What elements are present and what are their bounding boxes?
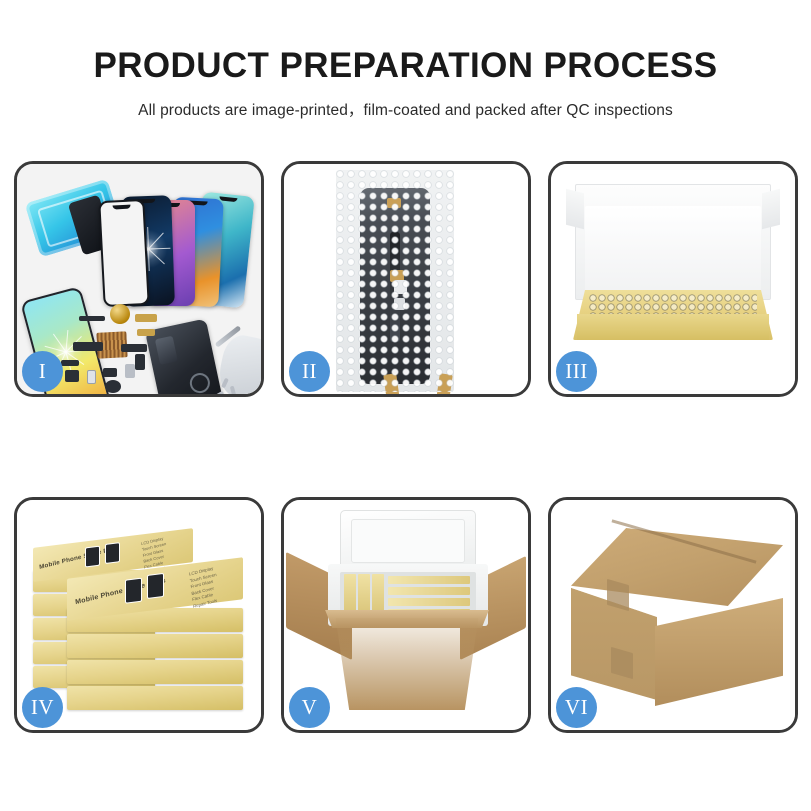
component-graphic <box>121 344 147 352</box>
component-graphic <box>103 368 117 377</box>
gold-box-edge-graphic <box>372 574 384 616</box>
speaker-component-graphic <box>110 304 130 324</box>
screen-thumbnail <box>125 578 142 604</box>
step-caption-2: Screen assembly sealed in bubble wrap ba… <box>284 164 285 165</box>
component-graphic <box>61 360 79 366</box>
component-graphic <box>73 342 103 351</box>
step-caption-5: Boxes loaded into foam-lined master cart… <box>284 500 285 501</box>
component-graphic <box>135 314 157 322</box>
process-steps-grid: I Mobile phone spare parts: screens, bac… <box>14 161 798 733</box>
front-glass-graphic <box>98 199 149 307</box>
step-panel-5[interactable]: V Boxes loaded into foam-lined master ca… <box>281 497 531 733</box>
bubble-texture <box>336 170 454 392</box>
gold-box-edge-graphic <box>358 574 370 616</box>
step-badge-1: I <box>22 351 63 392</box>
screen-thumbnail <box>85 546 100 568</box>
carton-body-graphic <box>322 618 492 710</box>
box-spec-lines: LCD DisplayTouch ScreenFront GlassBack C… <box>189 565 220 610</box>
step-caption-6: Sealed brown master carton ready for shi… <box>551 500 552 501</box>
foam-lid-graphic <box>340 510 476 572</box>
component-graphic <box>105 380 121 393</box>
screen-thumbnail <box>147 573 164 599</box>
component-graphic <box>137 329 155 336</box>
step-caption-3: Bubble-wrapped part placed in gold box w… <box>551 164 552 165</box>
gold-box-front-graphic <box>577 314 769 340</box>
step-panel-3[interactable]: III Bubble-wrapped part placed in gold b… <box>548 161 798 397</box>
page-subtitle: All products are image-printed，film-coat… <box>0 98 811 120</box>
step-badge-3: III <box>556 351 597 392</box>
gold-box-stack-graphic: Mobile Phone Spare Parts LCD DisplayTouc… <box>27 516 255 722</box>
phone-fan-group <box>101 176 261 306</box>
gold-box-graphic <box>67 686 243 710</box>
step-panel-6[interactable]: VI Sealed brown master carton ready for … <box>548 497 798 733</box>
white-foam-sheet-graphic <box>585 206 761 296</box>
step-badge-6: VI <box>556 687 597 728</box>
step-caption-4: Gold retail boxes stacked <box>17 500 18 501</box>
gold-box-graphic <box>67 660 243 684</box>
step-badge-4: IV <box>22 687 63 728</box>
product-preparation-infographic: PRODUCT PREPARATION PROCESS All products… <box>0 0 811 811</box>
component-graphic <box>65 370 79 382</box>
component-graphic <box>125 364 135 378</box>
screen-thumbnail <box>105 542 120 564</box>
gold-box-face-graphic <box>388 587 470 595</box>
step-badge-5: V <box>289 687 330 728</box>
step-panel-4[interactable]: Mobile Phone Spare Parts LCD DisplayTouc… <box>14 497 264 733</box>
step-badge-2: II <box>289 351 330 392</box>
bubble-wrap-bag-graphic <box>336 170 454 392</box>
carton-right-face-graphic <box>655 598 783 706</box>
back-cover-graphic <box>145 318 223 394</box>
gold-box-graphic <box>67 634 243 658</box>
page-title: PRODUCT PREPARATION PROCESS <box>0 48 811 85</box>
gold-box-face-graphic <box>388 598 470 606</box>
component-graphic <box>135 354 145 370</box>
component-graphic <box>79 316 105 321</box>
component-graphic <box>87 370 96 384</box>
gold-box-face-graphic <box>388 576 470 584</box>
step-panel-1[interactable]: I Mobile phone spare parts: screens, bac… <box>14 161 264 397</box>
gold-box-edge-graphic <box>344 574 356 616</box>
step-panel-2[interactable]: II Screen assembly sealed in bubble wrap… <box>281 161 531 397</box>
header: PRODUCT PREPARATION PROCESS All products… <box>0 0 811 120</box>
